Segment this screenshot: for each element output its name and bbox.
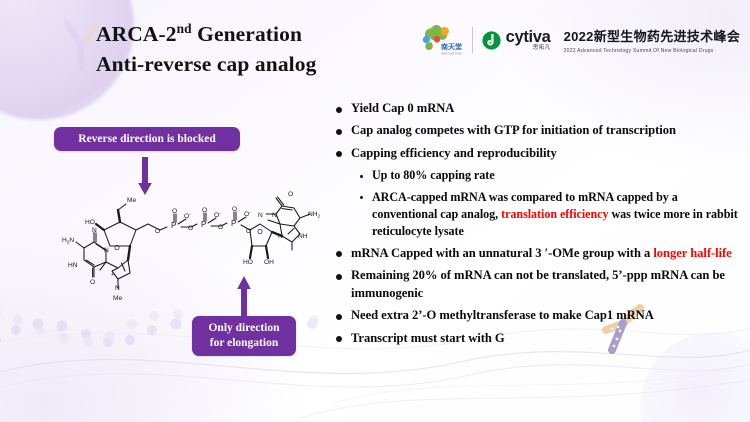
bullet-text: ARCA-capped mRNA was compared to mRNA ca…	[372, 189, 742, 241]
chem-label-p3-o: O	[232, 206, 237, 213]
bullet-plain-text: Yield Cap 0 mRNA	[351, 101, 454, 115]
bullet-text: Transcript must start with G	[351, 330, 505, 348]
bullet-item: Transcript must start with G	[336, 330, 742, 348]
chem-label-me-bottom: Me	[113, 295, 122, 302]
chem-label-p3: P	[231, 219, 236, 228]
bullet-plain-text: Cap analog competes with GTP for initiat…	[351, 123, 676, 137]
sub-bullet-dot-icon	[360, 196, 363, 199]
title-superscript: nd	[177, 21, 192, 36]
chem-label-nh-right: NH	[298, 233, 308, 240]
bullet-highlight-text: longer half-life	[653, 246, 731, 260]
bullet-dot-icon	[336, 251, 342, 257]
title-line-1-suffix: Generation	[192, 22, 302, 46]
chem-label-hn: HN	[68, 262, 78, 269]
bullet-item: Cap analog competes with GTP for initiat…	[336, 122, 742, 140]
chem-ring-o-left: O	[114, 245, 120, 252]
callout-only-direction-for-elongation: Only direction for elongation	[192, 316, 296, 356]
bullet-item: Remaining 20% of mRNA can not be transla…	[336, 267, 742, 303]
chem-label-bridge-o2: O	[188, 225, 193, 232]
sub-bullet-item: Up to 80% capping rate	[360, 167, 742, 184]
bullet-dot-icon	[336, 336, 342, 342]
bullet-text: Need extra 2’-O methyltransferase to mak…	[351, 307, 654, 325]
chem-label-oh-right: OH	[264, 259, 274, 266]
bullet-list: Yield Cap 0 mRNACap analog competes with…	[336, 100, 742, 352]
flower-logo-icon: 南天堂 NANTIANTANG	[411, 22, 463, 58]
chemical-structure-arca-diagram: O	[60, 172, 320, 302]
bullet-dot-icon	[336, 314, 342, 320]
bullet-text: Capping efficiency and reproducibility	[351, 145, 557, 163]
cytiva-wordmark: cytiva	[506, 29, 551, 46]
chem-label-n-right-2: N	[258, 212, 263, 219]
chem-label-plus-charge: +	[111, 272, 114, 278]
slide-canvas: ARCA-2nd Generation Anti-reverse cap ana…	[0, 0, 750, 422]
chem-label-p1-o: O	[172, 208, 177, 215]
bullet-text: Remaining 20% of mRNA can not be transla…	[351, 267, 742, 303]
chem-label-ho-left: HO	[85, 219, 95, 226]
callout-reverse-direction-blocked: Reverse direction is blocked	[54, 127, 240, 151]
bullet-plain-text: Up to 80% capping rate	[372, 168, 495, 182]
title-line-1-prefix: ARCA-2	[96, 22, 177, 46]
cytiva-logo: cytiva 思拓凡	[482, 29, 551, 52]
chem-label-bridge-o3: O	[218, 224, 223, 231]
bullet-highlight-text: translation efficiency	[501, 207, 608, 221]
bullet-text: Up to 80% capping rate	[372, 167, 495, 184]
bullet-dot-icon	[336, 151, 342, 157]
chem-label-ho-right: HO	[243, 259, 253, 266]
chem-label-p1-ominus: O-	[184, 212, 191, 220]
logo-divider	[472, 27, 473, 53]
bullet-text: mRNA Capped with an unnatural 3 ′-OMe gr…	[351, 245, 732, 263]
bullet-plain-text: Capping efficiency and reproducibility	[351, 146, 557, 160]
chem-label-n7-right: N	[272, 212, 277, 219]
callout-elong-line2: for elongation	[210, 337, 278, 349]
chem-label-me-top: Me	[127, 197, 136, 204]
chem-label-o-carbonyl: O	[90, 279, 95, 286]
cytiva-chinese-name: 思拓凡	[533, 46, 551, 52]
chem-label-p1: P	[171, 221, 176, 230]
chem-label-n9: N	[104, 247, 109, 254]
bullet-text: Cap analog competes with GTP for initiat…	[351, 122, 676, 140]
bullet-dot-icon	[336, 274, 342, 280]
bullet-text: Yield Cap 0 mRNA	[351, 100, 454, 118]
sub-bullet-item: ARCA-capped mRNA was compared to mRNA ca…	[360, 189, 742, 241]
bullet-plain-text: Transcript must start with G	[351, 331, 505, 345]
callout-elong-line1: Only direction	[208, 322, 279, 334]
sub-bullet-dot-icon	[360, 175, 363, 178]
page-title: ARCA-2nd Generation Anti-reverse cap ana…	[96, 20, 396, 79]
chem-label-nh2-right: NH2	[308, 211, 320, 218]
chem-label-p2: P	[201, 220, 206, 229]
chem-label-h2n: H2N	[62, 237, 74, 244]
chem-label-o-right: O	[288, 191, 293, 198]
summit-title-cn: 2022新型生物药先进技术峰会	[564, 26, 740, 45]
chem-label-n3: N	[92, 227, 97, 234]
cytiva-mark-icon	[482, 31, 501, 50]
chem-label-n9-right: N	[278, 233, 283, 240]
chem-label-p2-ominus: O-	[214, 211, 221, 219]
chem-ring-o-right: O	[257, 229, 263, 236]
chem-label-n7-plus: N	[115, 285, 120, 292]
summit-title-en: 2022 Advanced Technology Summit Of New B…	[564, 48, 740, 54]
bullet-item: Capping efficiency and reproducibility	[336, 145, 742, 163]
bullet-plain-text: mRNA Capped with an unnatural 3 ′-OMe gr…	[351, 246, 653, 260]
chem-label-p3-ominus: O-	[244, 210, 251, 218]
title-line-2: Anti-reverse cap analog	[96, 52, 316, 76]
bullet-item: Yield Cap 0 mRNA	[336, 100, 742, 118]
bullet-item: mRNA Capped with an unnatural 3 ′-OMe gr…	[336, 245, 742, 263]
svg-text:NANTIANTANG: NANTIANTANG	[441, 52, 463, 56]
bullet-item: Need extra 2’-O methyltransferase to mak…	[336, 307, 742, 325]
bullet-plain-text: Need extra 2’-O methyltransferase to mak…	[351, 308, 654, 322]
summit-banner: 2022新型生物药先进技术峰会 2022 Advanced Technology…	[564, 26, 740, 54]
logo-bar: 南天堂 NANTIANTANG cytiva 思拓凡 2022新型生物药先进技术…	[411, 20, 740, 60]
svg-text:南天堂: 南天堂	[441, 42, 462, 51]
bullet-dot-icon	[336, 129, 342, 135]
chem-label-bridge-o4: O	[246, 228, 251, 235]
bullet-plain-text: Remaining 20% of mRNA can not be transla…	[351, 268, 725, 300]
bullet-dot-icon	[336, 107, 342, 113]
chem-label-bridge-o1: O	[155, 228, 160, 235]
chem-label-p2-o: O	[202, 207, 207, 214]
